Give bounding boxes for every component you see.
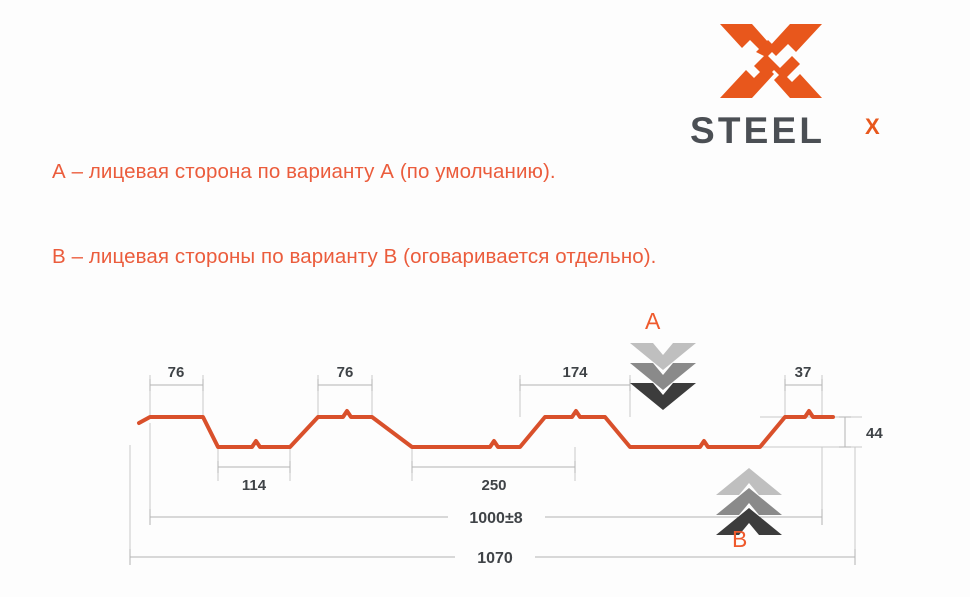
face-side-b-marker [716, 468, 782, 535]
dimension-label: 114 [242, 477, 267, 494]
dimension-label: 1000±8 [469, 510, 522, 527]
dimension-crest-width-left: 76 [150, 364, 203, 391]
dimension-profile-height: 44 [839, 417, 883, 447]
profile-drawing: 76 76 174 37 114 [0, 295, 970, 590]
caption-variant-b: В – лицевая стороны по варианту В (огова… [52, 245, 656, 269]
dimension-label: 1070 [477, 550, 513, 567]
dimension-valley-width: 114 [218, 461, 290, 494]
caption-variant-a: А – лицевая сторона по варианту А (по ум… [52, 160, 556, 184]
dimension-trough-width: 174 [520, 364, 630, 391]
corrugated-profile-line [139, 411, 833, 447]
dimension-label: 174 [562, 364, 588, 381]
steelx-x-mark-icon [718, 18, 824, 104]
face-side-b-letter: B [732, 528, 747, 551]
dimension-label: 44 [866, 425, 883, 442]
face-side-a-marker [630, 343, 696, 410]
brand-wordmark-text: STEEL [690, 110, 825, 150]
page-root: STEEL X А – лицевая сторона по варианту … [0, 0, 970, 597]
face-side-a-letter: A [645, 310, 660, 333]
brand-wordmark: STEEL X [690, 110, 910, 150]
dimension-label: 250 [481, 477, 506, 494]
dimension-label: 37 [795, 364, 812, 381]
dimension-label: 76 [337, 364, 354, 381]
extension-lines [130, 375, 862, 557]
dimension-label: 76 [168, 364, 185, 381]
brand-logo: STEEL X [690, 18, 910, 143]
dimension-rib-pitch: 250 [412, 461, 575, 494]
dimension-end-lap-width: 37 [785, 364, 822, 391]
brand-wordmark-superscript: X [865, 114, 880, 139]
dimension-crest-width-mid: 76 [318, 364, 372, 391]
